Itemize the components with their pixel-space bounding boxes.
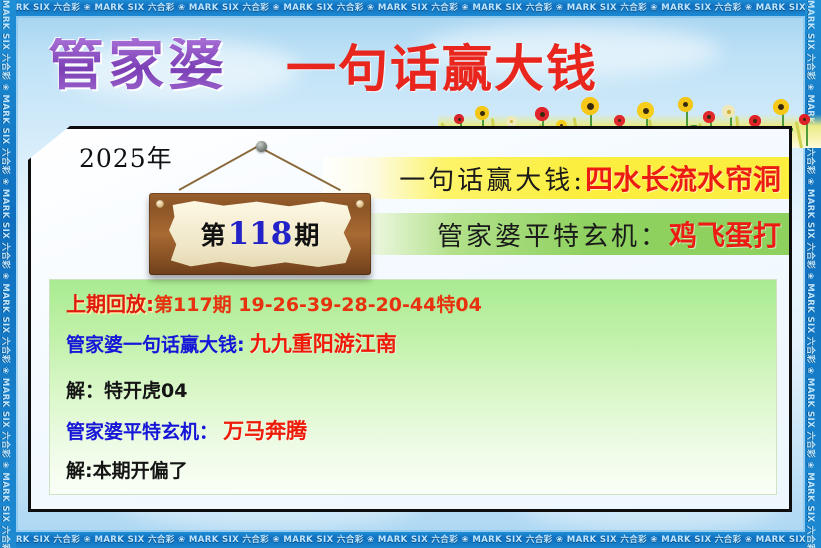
issue-value: 118 <box>226 216 295 252</box>
banner-label: 一句话赢大钱: <box>399 160 585 197</box>
nail-icon <box>256 141 267 152</box>
answer-2-text: 解:本期开偏了 <box>66 460 188 482</box>
bolt-icon <box>356 200 364 208</box>
border-ribbon-right: MARK SIX 六合彩 ❀ MARK SIX 六合彩 ❀ MARK SIX 六… <box>805 0 821 548</box>
issue-prefix: 第 <box>201 216 226 252</box>
ribbon-text: MARK SIX 六合彩 ❀ MARK SIX 六合彩 ❀ MARK SIX 六… <box>0 532 821 548</box>
row-last-draw-replay: 上期回放:第117期 19-26-39-28-20-44特04 <box>66 294 776 315</box>
xuanji-label: 管家婆平特玄机： <box>66 421 218 443</box>
banner-value: 四水长流水帘洞 <box>585 158 781 198</box>
answer-1-text: 解：特开虎04 <box>66 380 187 402</box>
banner-value: 鸡飞蛋打 <box>669 214 781 254</box>
banner-ping-te-xuan-ji: 管家婆平特玄机： 鸡飞蛋打 <box>323 213 789 255</box>
banner-label: 管家婆平特玄机： <box>437 216 669 253</box>
issue-number: 第118期 <box>201 216 320 252</box>
row-answer-2: 解:本期开偏了 <box>66 462 776 481</box>
saying-label: 管家婆一句话赢大钱: <box>66 334 245 356</box>
row-xuanji: 管家婆平特玄机： 万马奔腾 <box>66 421 776 442</box>
content-panel: 上期回放:第117期 19-26-39-28-20-44特04 管家婆一句话赢大… <box>49 279 777 495</box>
ribbon-text: MARK SIX 六合彩 ❀ MARK SIX 六合彩 ❀ MARK SIX 六… <box>0 0 821 16</box>
issue-suffix: 期 <box>294 216 319 252</box>
bolt-icon <box>156 200 164 208</box>
ribbon-text: MARK SIX 六合彩 ❀ MARK SIX 六合彩 ❀ MARK SIX 六… <box>805 0 818 548</box>
poster-root: MARK SIX 六合彩 ❀ MARK SIX 六合彩 ❀ MARK SIX 六… <box>0 0 821 548</box>
slogan-title: 一句话赢大钱 <box>286 44 598 94</box>
wooden-board: 第118期 <box>149 193 371 275</box>
border-ribbon-bottom: MARK SIX 六合彩 ❀ MARK SIX 六合彩 ❀ MARK SIX 六… <box>0 532 821 548</box>
banner-yi-ju-hua: 一句话赢大钱: 四水长流水帘洞 <box>323 157 789 199</box>
ribbon-text: MARK SIX 六合彩 ❀ MARK SIX 六合彩 ❀ MARK SIX 六… <box>0 0 13 548</box>
header: 管家婆 一句话赢大钱 <box>18 18 803 130</box>
brand-title: 管家婆 <box>48 38 228 94</box>
saying-value: 九九重阳游江南 <box>250 332 397 356</box>
row-answer-1: 解：特开虎04 <box>66 382 776 401</box>
replay-value: 第117期 19-26-39-28-20-44特04 <box>154 294 482 316</box>
border-ribbon-top: MARK SIX 六合彩 ❀ MARK SIX 六合彩 ❀ MARK SIX 六… <box>0 0 821 16</box>
rope-left <box>179 145 259 190</box>
paper-scroll: 第118期 <box>169 201 351 267</box>
replay-label: 上期回放: <box>66 292 154 316</box>
xuanji-value: 万马奔腾 <box>223 419 307 443</box>
row-saying: 管家婆一句话赢大钱: 九九重阳游江南 <box>66 334 776 355</box>
main-card: 2025年 第118期 一句话赢大钱: 四水长流水帘洞 管家婆平特玄 <box>28 126 792 512</box>
border-ribbon-left: MARK SIX 六合彩 ❀ MARK SIX 六合彩 ❀ MARK SIX 六… <box>0 0 16 548</box>
